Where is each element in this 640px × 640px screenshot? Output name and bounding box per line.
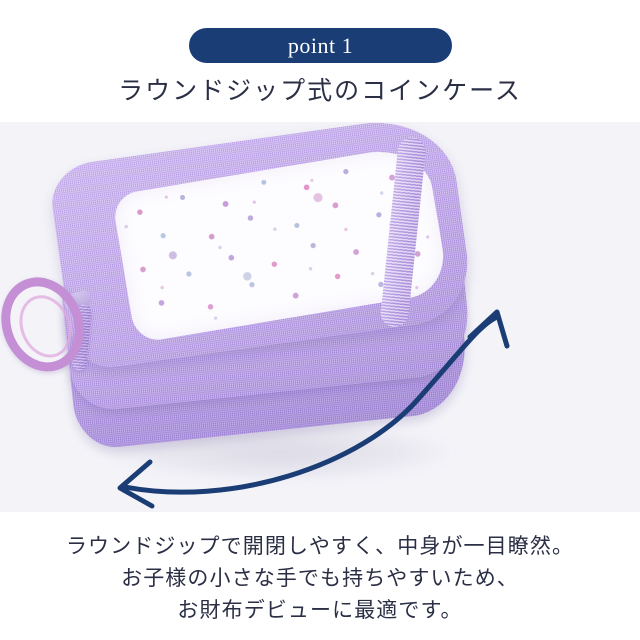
page-subtitle: ラウンドジップ式のコインケース (0, 71, 640, 107)
caption-line-2: お子様の小さな手でも持ちやすいため、 (0, 562, 640, 594)
caption-line-3: お財布デビューに最適です。 (0, 594, 640, 626)
caption-line-1: ラウンドジップで開閉しやすく、中身が一目瞭然。 (0, 530, 640, 562)
coin-case-product (23, 122, 527, 506)
caption-section: ラウンドジップで開閉しやすく、中身が一目瞭然。 お子様の小さな手でも持ちやすいた… (0, 512, 640, 640)
product-feature-slide: point 1 ラウンドジップ式のコインケース ラウンドジッ (0, 0, 640, 640)
header-section: point 1 ラウンドジップ式のコインケース (0, 0, 640, 122)
product-photo-area (0, 122, 640, 512)
point-badge-label: point 1 (288, 35, 353, 57)
point-badge: point 1 (189, 28, 452, 63)
